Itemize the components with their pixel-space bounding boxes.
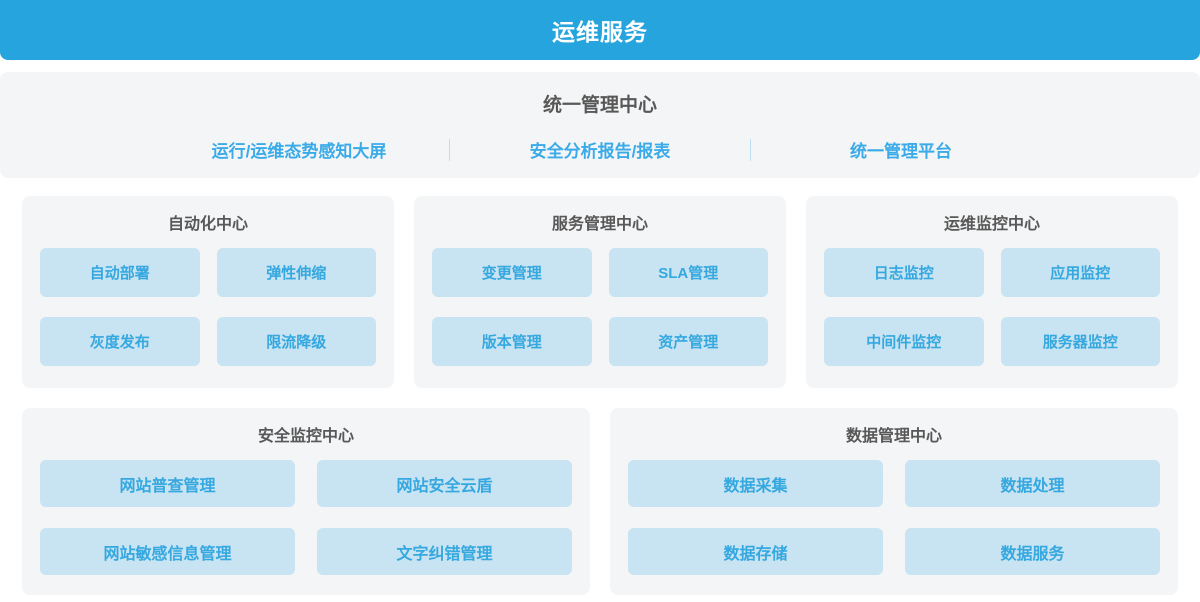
tile-item[interactable]: 弹性伸缩 <box>217 248 377 297</box>
tile-item[interactable]: 应用监控 <box>1001 248 1161 297</box>
management-center-panel: 统一管理中心 运行/运维态势感知大屏 安全分析报告/报表 统一管理平台 <box>0 72 1200 178</box>
tile-item[interactable]: 网站敏感信息管理 <box>40 528 295 575</box>
card-title: 安全监控中心 <box>40 422 572 446</box>
tile-grid: 网站普查管理 网站安全云盾 网站敏感信息管理 文字纠错管理 <box>40 460 572 579</box>
tile-item[interactable]: 文字纠错管理 <box>317 528 572 575</box>
card-title: 运维监控中心 <box>824 210 1160 234</box>
card-service-management-center: 服务管理中心 变更管理 SLA管理 版本管理 资产管理 <box>414 196 786 388</box>
card-title: 自动化中心 <box>40 210 376 234</box>
management-center-links: 运行/运维态势感知大屏 安全分析报告/报表 统一管理平台 <box>0 137 1200 162</box>
tile-item[interactable]: 灰度发布 <box>40 317 200 366</box>
management-link-platform[interactable]: 统一管理平台 <box>751 137 1051 162</box>
tile-grid: 日志监控 应用监控 中间件监控 服务器监控 <box>824 248 1160 372</box>
tile-item[interactable]: SLA管理 <box>609 248 769 297</box>
card-security-monitoring-center: 安全监控中心 网站普查管理 网站安全云盾 网站敏感信息管理 文字纠错管理 <box>22 408 590 595</box>
management-center-title: 统一管理中心 <box>543 90 657 117</box>
card-title: 数据管理中心 <box>628 422 1160 446</box>
tile-item[interactable]: 服务器监控 <box>1001 317 1161 366</box>
tile-item[interactable]: 网站安全云盾 <box>317 460 572 507</box>
architecture-diagram-page: 运维服务 统一管理中心 运行/运维态势感知大屏 安全分析报告/报表 统一管理平台… <box>0 0 1200 602</box>
tile-item[interactable]: 中间件监控 <box>824 317 984 366</box>
tile-grid: 自动部署 弹性伸缩 灰度发布 限流降级 <box>40 248 376 372</box>
card-row-bottom: 安全监控中心 网站普查管理 网站安全云盾 网站敏感信息管理 文字纠错管理 数据管… <box>22 408 1178 595</box>
tile-item[interactable]: 变更管理 <box>432 248 592 297</box>
management-link-security-report[interactable]: 安全分析报告/报表 <box>450 137 750 162</box>
tile-item[interactable]: 数据采集 <box>628 460 883 507</box>
card-row-top: 自动化中心 自动部署 弹性伸缩 灰度发布 限流降级 服务管理中心 变更管理 SL… <box>22 196 1178 388</box>
tile-item[interactable]: 资产管理 <box>609 317 769 366</box>
tile-grid: 数据采集 数据处理 数据存储 数据服务 <box>628 460 1160 579</box>
tile-item[interactable]: 日志监控 <box>824 248 984 297</box>
page-title: 运维服务 <box>552 13 648 47</box>
tile-item[interactable]: 数据处理 <box>905 460 1160 507</box>
tile-item[interactable]: 数据服务 <box>905 528 1160 575</box>
tile-grid: 变更管理 SLA管理 版本管理 资产管理 <box>432 248 768 372</box>
card-title: 服务管理中心 <box>432 210 768 234</box>
tile-item[interactable]: 数据存储 <box>628 528 883 575</box>
card-automation-center: 自动化中心 自动部署 弹性伸缩 灰度发布 限流降级 <box>22 196 394 388</box>
header-bar: 运维服务 <box>0 0 1200 60</box>
card-data-management-center: 数据管理中心 数据采集 数据处理 数据存储 数据服务 <box>610 408 1178 595</box>
card-ops-monitoring-center: 运维监控中心 日志监控 应用监控 中间件监控 服务器监控 <box>806 196 1178 388</box>
tile-item[interactable]: 限流降级 <box>217 317 377 366</box>
tile-item[interactable]: 网站普查管理 <box>40 460 295 507</box>
tile-item[interactable]: 自动部署 <box>40 248 200 297</box>
management-link-dashboard[interactable]: 运行/运维态势感知大屏 <box>149 137 449 162</box>
tile-item[interactable]: 版本管理 <box>432 317 592 366</box>
